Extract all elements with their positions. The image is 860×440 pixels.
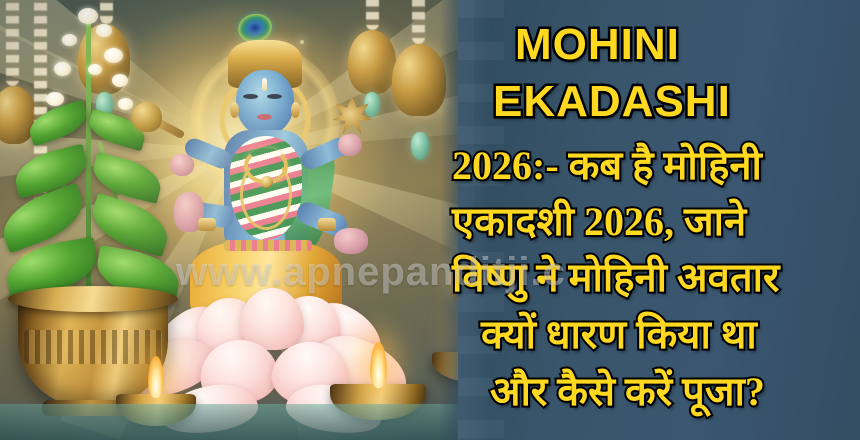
deity-mouth — [257, 114, 272, 120]
deity-hand-upper-left — [170, 154, 194, 176]
jade-drop — [411, 132, 429, 160]
mohini-ekadashi-poster: www.apnepanditji.c MOHINI EKADASHI 2026:… — [0, 0, 860, 440]
mace-head — [132, 102, 162, 132]
pot-engraving — [24, 330, 162, 364]
tulsi-blossom — [118, 98, 133, 110]
tulsi-blossom — [62, 34, 77, 46]
tulsi-blossom — [104, 48, 123, 63]
wrist-bangle-right — [318, 218, 336, 231]
bead-string — [6, 0, 19, 86]
earring-left — [230, 102, 239, 118]
waist-belt — [224, 240, 312, 251]
deity-eye-left — [243, 94, 258, 99]
bead-string — [100, 0, 113, 24]
panel-light-streaks — [458, 0, 504, 440]
tulsi-blossom — [54, 62, 71, 76]
tilak-mark — [262, 78, 267, 91]
text-panel — [458, 0, 860, 440]
tulsi-blossom — [96, 24, 112, 37]
bead-string — [412, 0, 425, 44]
deity-eye-right — [267, 94, 282, 99]
deity-hand-upper-right — [338, 134, 362, 156]
deity-hand-lower-right — [334, 228, 368, 254]
tulsi-blossom — [46, 92, 64, 106]
wrist-bangle-left — [198, 218, 216, 231]
necklace-pendant — [261, 176, 273, 188]
hanging-lamp — [392, 44, 446, 116]
tulsi-blossom — [112, 74, 128, 87]
tulsi-blossom — [78, 8, 98, 24]
pot-rim — [8, 286, 178, 312]
tulsi-blossom — [88, 64, 102, 75]
earring-right — [291, 102, 300, 118]
